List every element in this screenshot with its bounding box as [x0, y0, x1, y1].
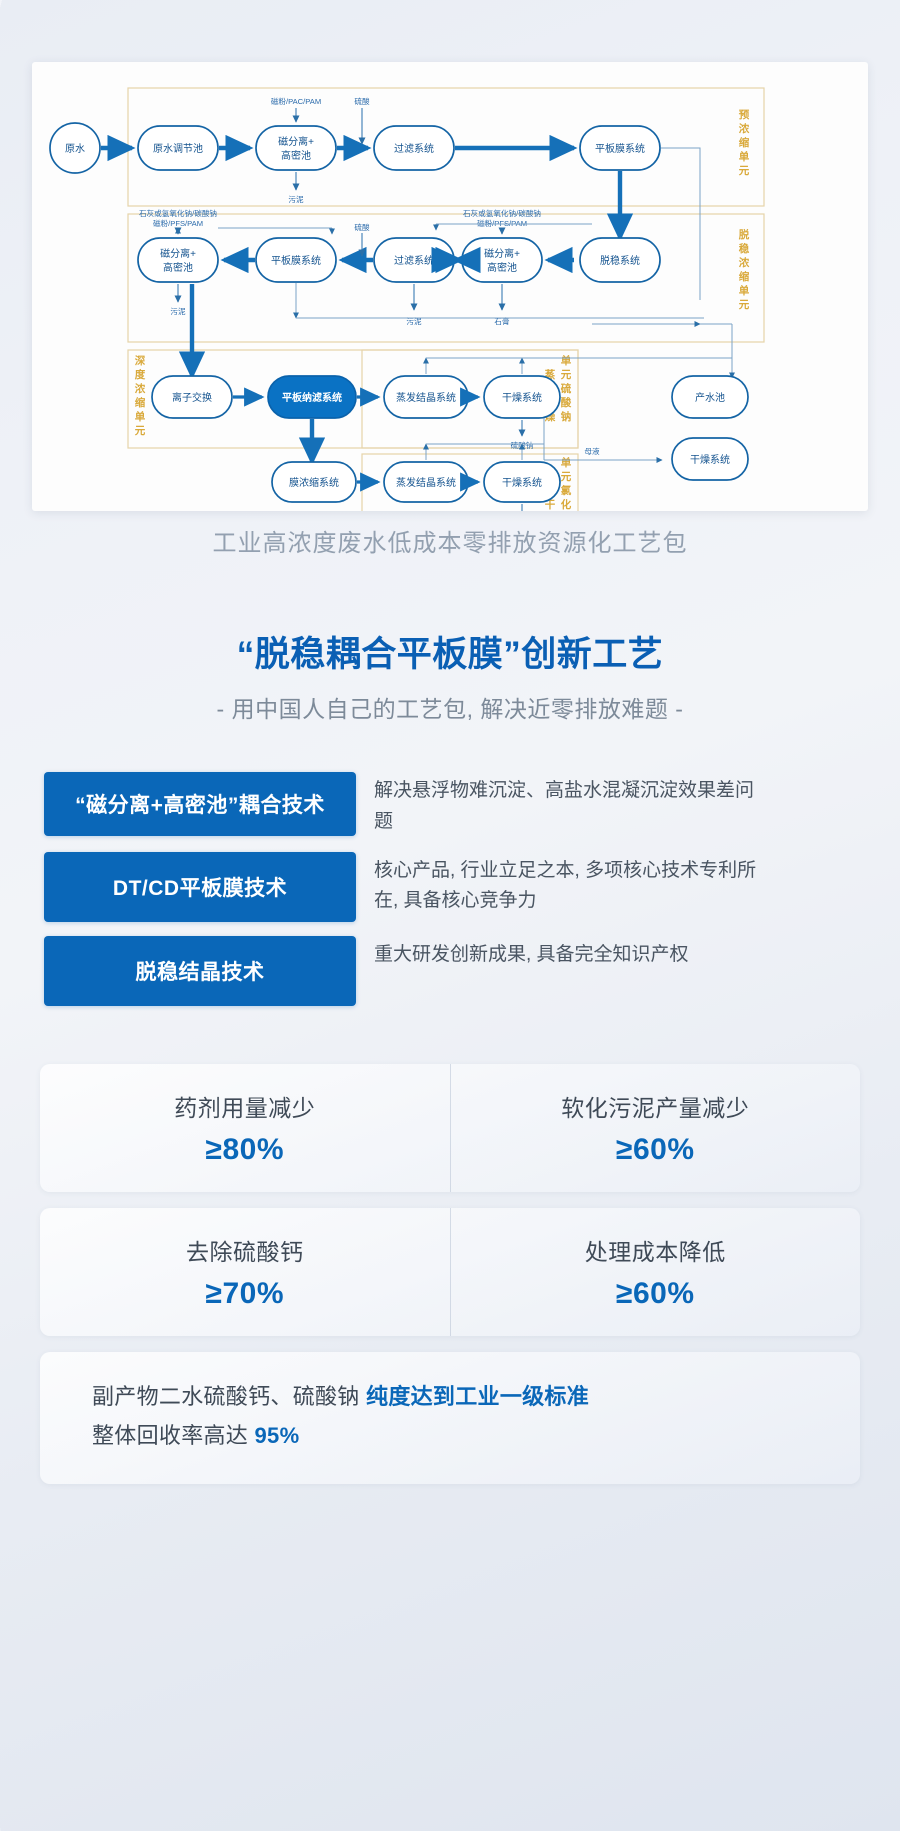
feature-item: 脱稳结晶技术 重大研发创新成果, 具备完全知识产权: [44, 936, 856, 1006]
stream-label-mother-liquor: 母液: [584, 446, 600, 456]
stat-cell-softening-sludge: 软化污泥产量减少 ≥60%: [450, 1064, 861, 1192]
stat-label-caso4-removal: 去除硫酸钙: [186, 1233, 304, 1267]
svg-text:元: 元: [739, 299, 750, 311]
svg-text:氯: 氯: [561, 484, 572, 497]
svg-text:酸: 酸: [561, 396, 572, 409]
svg-text:高密池: 高密池: [281, 149, 311, 162]
node-label-raw-water: 原水: [65, 143, 85, 155]
stream-label-sludge-1: 污泥: [288, 195, 304, 204]
node-label-destab-system: 脱稳系统: [600, 254, 640, 267]
dosing-label-d5-line2: 磁粉/PFS/PAM: [477, 218, 527, 228]
unit-label-deep-conc: 深: [135, 354, 146, 367]
svg-text:单: 单: [739, 284, 750, 297]
node-label-filter-2: 过滤系统: [394, 254, 434, 267]
byproduct-note-prefix-2: 整体回收率高达: [92, 1423, 255, 1448]
page-subtitle: - 用中国人自己的工艺包, 解决近零排放难题 -: [0, 690, 900, 724]
stat-value-chemical-usage: ≥80%: [205, 1133, 284, 1167]
node-label-drying-3: 干燥系统: [690, 453, 730, 466]
svg-text:磁分离+: 磁分离+: [484, 247, 520, 260]
svg-text:高密池: 高密池: [487, 261, 517, 274]
stat-cell-caso4-removal: 去除硫酸钙 ≥70%: [40, 1208, 450, 1336]
svg-text:磁分离+: 磁分离+: [278, 135, 314, 148]
svg-text:浓: 浓: [739, 122, 750, 135]
node-label-product-water-tank: 产水池: [695, 391, 725, 404]
process-flow-diagram-card: .nd{fill:#ffffff;stroke:#1464a5;stroke-w…: [32, 62, 868, 511]
dosing-label-d4: 硫酸: [354, 222, 370, 232]
stream-label-sludge-3: 污泥: [406, 317, 422, 326]
feature-desc-dtcd-membrane: 核心产品, 行业立足之本, 多项核心技术专利所在, 具备核心竞争力: [374, 852, 762, 918]
feature-item: DT/CD平板膜技术 核心产品, 行业立足之本, 多项核心技术专利所在, 具备核…: [44, 852, 856, 922]
stat-label-chemical-usage: 药剂用量减少: [174, 1089, 315, 1123]
svg-text:元: 元: [561, 369, 572, 381]
svg-text:高密池: 高密池: [163, 261, 193, 274]
feature-tag-mag-sep[interactable]: “磁分离+高密池”耦合技术: [44, 772, 356, 836]
diagram-caption: 工业高浓度废水低成本零排放资源化工艺包: [0, 523, 900, 558]
dosing-label-d1: 磁粉/PAC/PAM: [271, 96, 321, 106]
node-label-ion-exchange: 离子交换: [172, 391, 212, 404]
svg-text:元: 元: [739, 165, 750, 177]
node-label-flat-membrane-1: 平板膜系统: [595, 142, 645, 155]
svg-text:元: 元: [561, 471, 572, 483]
stat-cell-chemical-usage: 药剂用量减少 ≥80%: [40, 1064, 450, 1192]
node-mag-sep-hd-2: [138, 238, 218, 282]
unit-label-unit-nacl: 单: [561, 456, 572, 469]
svg-text:缩: 缩: [135, 396, 146, 409]
byproduct-note-line-1: 副产物二水硫酸钙、硫酸钠 纯度达到工业一级标准: [92, 1378, 860, 1417]
byproduct-note-highlight-1: 纯度达到工业一级标准: [366, 1384, 589, 1409]
byproduct-note-card: 副产物二水硫酸钙、硫酸钠 纯度达到工业一级标准 整体回收率高达 95%: [40, 1352, 860, 1484]
feature-item: “磁分离+高密池”耦合技术 解决悬浮物难沉淀、高盐水混凝沉淀效果差问题: [44, 772, 856, 838]
svg-text:单: 单: [135, 410, 146, 423]
byproduct-note-highlight-2: 95%: [255, 1423, 300, 1448]
feature-desc-mag-sep: 解决悬浮物难沉淀、高盐水混凝沉淀效果差问题: [374, 772, 762, 838]
stat-card-row-1: 药剂用量减少 ≥80% 软化污泥产量减少 ≥60%: [40, 1064, 860, 1192]
feature-tag-dtcd-membrane[interactable]: DT/CD平板膜技术: [44, 852, 356, 922]
svg-text:钠: 钠: [561, 410, 572, 423]
svg-text:缩: 缩: [739, 270, 750, 283]
dosing-label-d3-line1: 石灰或氢氧化钠/碳酸钠: [139, 208, 217, 218]
node-label-flat-nf-system: 平板纳滤系统: [282, 391, 342, 404]
svg-text:磁分离+: 磁分离+: [160, 247, 196, 260]
svg-text:单: 单: [739, 150, 750, 163]
byproduct-note-prefix-1: 副产物二水硫酸钙、硫酸钠: [92, 1384, 366, 1409]
stat-value-cost-reduction: ≥60%: [616, 1277, 695, 1311]
unit-label-pre-conc: 预: [739, 109, 750, 121]
node-label-membrane-conc: 膜浓缩系统: [289, 476, 339, 489]
svg-text:度: 度: [135, 368, 146, 381]
node-label-drying-1: 干燥系统: [502, 391, 542, 404]
svg-text:元: 元: [135, 425, 146, 437]
node-label-raw-water-tank: 原水调节池: [153, 142, 203, 155]
svg-text:浓: 浓: [135, 382, 146, 395]
stat-card-row-2: 去除硫酸钙 ≥70% 处理成本降低 ≥60%: [40, 1208, 860, 1336]
stat-label-cost-reduction: 处理成本降低: [585, 1233, 726, 1267]
stat-label-softening-sludge: 软化污泥产量减少: [561, 1089, 749, 1123]
node-label-drying-2: 干燥系统: [502, 476, 542, 489]
node-label-evap-cryst-1: 蒸发结晶系统: [396, 391, 456, 404]
node-label-evap-cryst-2: 蒸发结晶系统: [396, 476, 456, 489]
process-flow-svg: .nd{fill:#ffffff;stroke:#1464a5;stroke-w…: [32, 62, 868, 511]
svg-text:化: 化: [561, 498, 572, 511]
dosing-label-d2: 硫酸: [354, 96, 370, 106]
page-title: “脱稳耦合平板膜”创新工艺: [0, 626, 900, 677]
svg-text:稳: 稳: [739, 242, 750, 255]
node-mag-sep-hd-3: [462, 238, 542, 282]
node-label-flat-membrane-2: 平板膜系统: [271, 254, 321, 267]
node-mag-sep-hd-1: [256, 126, 336, 170]
feature-desc-destab-cryst: 重大研发创新成果, 具备完全知识产权: [374, 936, 689, 971]
dosing-label-d3-line2: 磁粉/PFS/PAM: [153, 218, 203, 228]
node-label-filter-1: 过滤系统: [394, 142, 434, 155]
byproduct-note-line-2: 整体回收率高达 95%: [92, 1417, 860, 1456]
stat-value-caso4-removal: ≥70%: [205, 1277, 284, 1311]
svg-text:硫: 硫: [561, 382, 572, 395]
feature-list: “磁分离+高密池”耦合技术 解决悬浮物难沉淀、高盐水混凝沉淀效果差问题 DT/C…: [44, 772, 856, 1020]
feature-tag-destab-cryst[interactable]: 脱稳结晶技术: [44, 936, 356, 1006]
stream-label-gypsum: 石膏: [494, 316, 510, 326]
stat-cell-cost-reduction: 处理成本降低 ≥60%: [450, 1208, 861, 1336]
svg-text:浓: 浓: [739, 256, 750, 269]
stream-label-sludge-2: 污泥: [170, 307, 186, 316]
unit-label-unit-na2so4: 单: [561, 354, 572, 367]
dosing-label-d5-line1: 石灰或氢氧化钠/碳酸钠: [463, 208, 541, 218]
stat-value-softening-sludge: ≥60%: [616, 1133, 695, 1167]
unit-label-destab-conc: 脱: [739, 228, 750, 241]
svg-text:缩: 缩: [739, 136, 750, 149]
